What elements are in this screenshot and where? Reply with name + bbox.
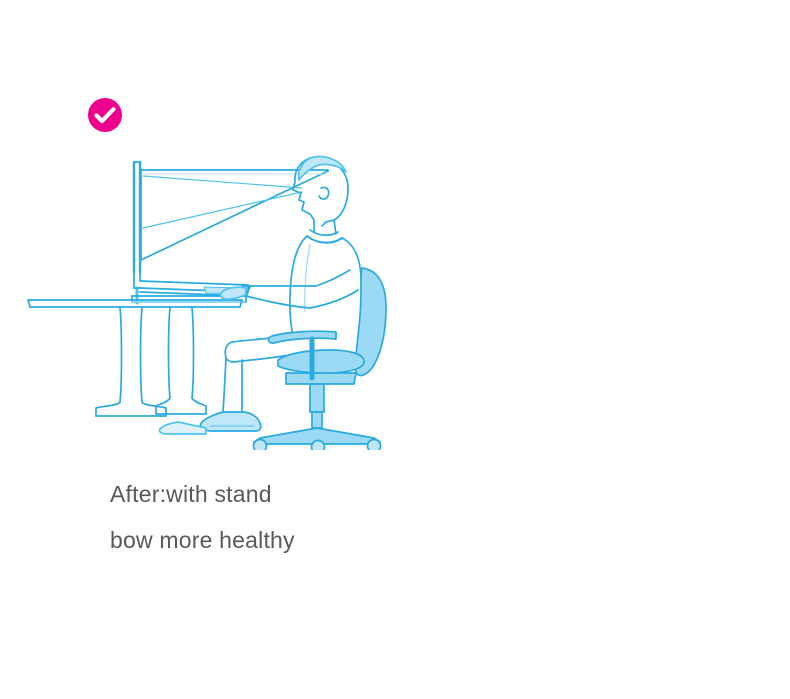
comparison-infographic: After:with stand bow more healthy [0,0,790,699]
caption-good-line-1: After:with stand [110,481,272,508]
panel-bad-posture: before:without stand Cervical spondylosi… [395,0,790,600]
caption-good-line-2: bow more healthy [110,527,295,554]
illustration-upright-with-stand [10,140,410,450]
check-circle-icon [88,98,122,132]
panel-good-posture: After:with stand bow more healthy [0,0,395,600]
